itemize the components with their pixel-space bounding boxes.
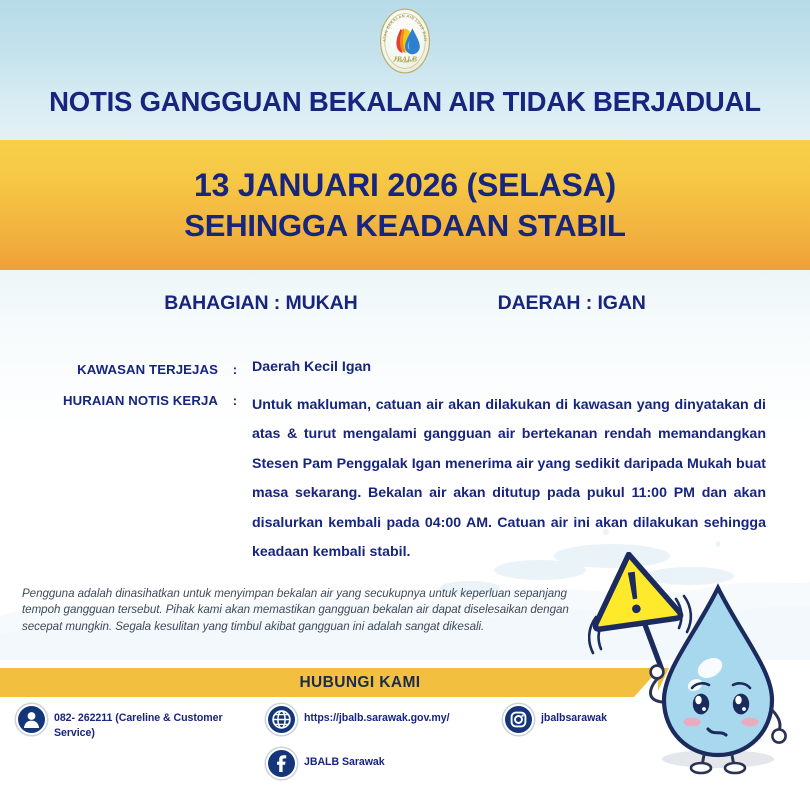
table-row: KAWASAN TERJEJAS : Daerah Kecil Igan bbox=[0, 360, 810, 377]
contact-text: 082- 262211 (Careline & Customer Service… bbox=[54, 706, 253, 742]
contact-text: JBALB Sarawak bbox=[304, 750, 385, 770]
person-icon bbox=[18, 706, 45, 733]
water-droplet-mascot bbox=[588, 552, 810, 792]
date-line-2: SEHINGGA KEADAAN STABIL bbox=[184, 206, 625, 246]
instagram-icon bbox=[505, 706, 532, 733]
contact-text: https://jbalb.sarawak.gov.my/ bbox=[304, 706, 450, 726]
info-table: KAWASAN TERJEJAS : Daerah Kecil Igan HUR… bbox=[0, 360, 810, 581]
notice-poster: JABATAN BEKALAN AIR LUAR BANDAR SARAWAK … bbox=[0, 0, 810, 810]
facebook-icon bbox=[268, 750, 295, 777]
contact-website[interactable]: https://jbalb.sarawak.gov.my/ bbox=[268, 706, 498, 733]
region-row: BAHAGIAN : MUKAH DAERAH : IGAN bbox=[0, 292, 810, 315]
date-banner: 13 JANUARI 2026 (SELASA) SEHINGGA KEADAA… bbox=[0, 140, 810, 270]
globe-icon bbox=[268, 706, 295, 733]
date-line-1: 13 JANUARI 2026 (SELASA) bbox=[194, 165, 616, 206]
district-label: DAERAH : IGAN bbox=[498, 292, 646, 315]
row-separator: : bbox=[218, 360, 252, 377]
contact-phone[interactable]: 082- 262211 (Careline & Customer Service… bbox=[18, 706, 253, 742]
row-label: KAWASAN TERJEJAS bbox=[0, 360, 218, 377]
logo-container: JABATAN BEKALAN AIR LUAR BANDAR SARAWAK … bbox=[0, 4, 810, 82]
division-label: BAHAGIAN : MUKAH bbox=[164, 292, 357, 315]
page-title: NOTIS GANGGUAN BEKALAN AIR TIDAK BERJADU… bbox=[0, 86, 810, 118]
jbalb-logo-icon: JABATAN BEKALAN AIR LUAR BANDAR SARAWAK … bbox=[368, 4, 442, 83]
row-separator: : bbox=[218, 391, 252, 408]
contact-facebook[interactable]: JBALB Sarawak bbox=[268, 750, 498, 777]
row-label: HURAIAN NOTIS KERJA bbox=[0, 391, 218, 408]
disclaimer-text: Pengguna adalah dinasihatkan untuk menyi… bbox=[22, 586, 592, 635]
row-value: Daerah Kecil Igan bbox=[252, 360, 776, 375]
svg-text:JBALB: JBALB bbox=[392, 54, 417, 63]
row-value: Untuk makluman, catuan air akan dilakuka… bbox=[252, 391, 790, 567]
table-row: HURAIAN NOTIS KERJA : Untuk makluman, ca… bbox=[0, 391, 810, 567]
